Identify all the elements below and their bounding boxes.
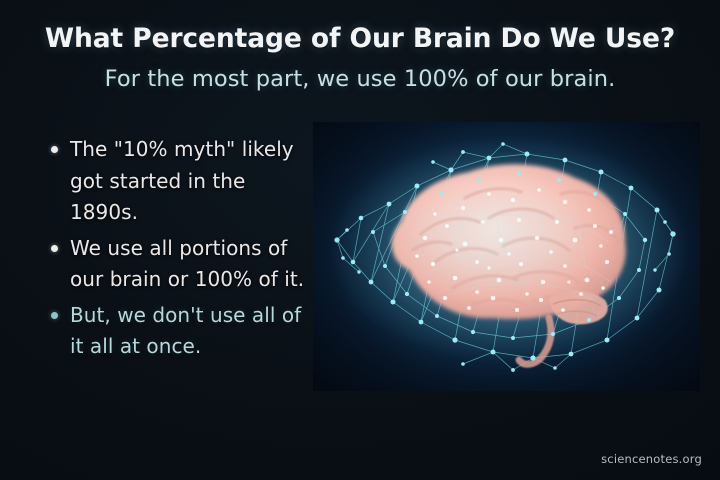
list-item-label: The "10% myth" likely got started in the… [70, 137, 294, 224]
page-subtitle: For the most part, we use 100% of our br… [0, 65, 720, 94]
list-item-label: But, we don't use all of it all at once. [70, 303, 301, 359]
headline-block: What Percentage of Our Brain Do We Use? … [0, 22, 720, 94]
list-item: We use all portions of our brain or 100%… [44, 233, 306, 296]
brain-network-graphic [313, 122, 700, 391]
node-glow-overlay [393, 184, 593, 300]
watermark: sciencenotes.org [601, 452, 702, 466]
bullet-list: The "10% myth" likely got started in the… [44, 134, 306, 367]
list-item-label: We use all portions of our brain or 100%… [70, 236, 304, 292]
bullet-dot-icon [51, 312, 58, 319]
list-item: The "10% myth" likely got started in the… [44, 134, 306, 229]
brain-network-illustration [313, 122, 700, 391]
bullet-dot-icon [51, 146, 58, 153]
page-title: What Percentage of Our Brain Do We Use? [0, 22, 720, 56]
list-item: But, we don't use all of it all at once. [44, 300, 306, 363]
bullet-dot-icon [51, 245, 58, 252]
infographic-slide: What Percentage of Our Brain Do We Use? … [0, 0, 720, 480]
